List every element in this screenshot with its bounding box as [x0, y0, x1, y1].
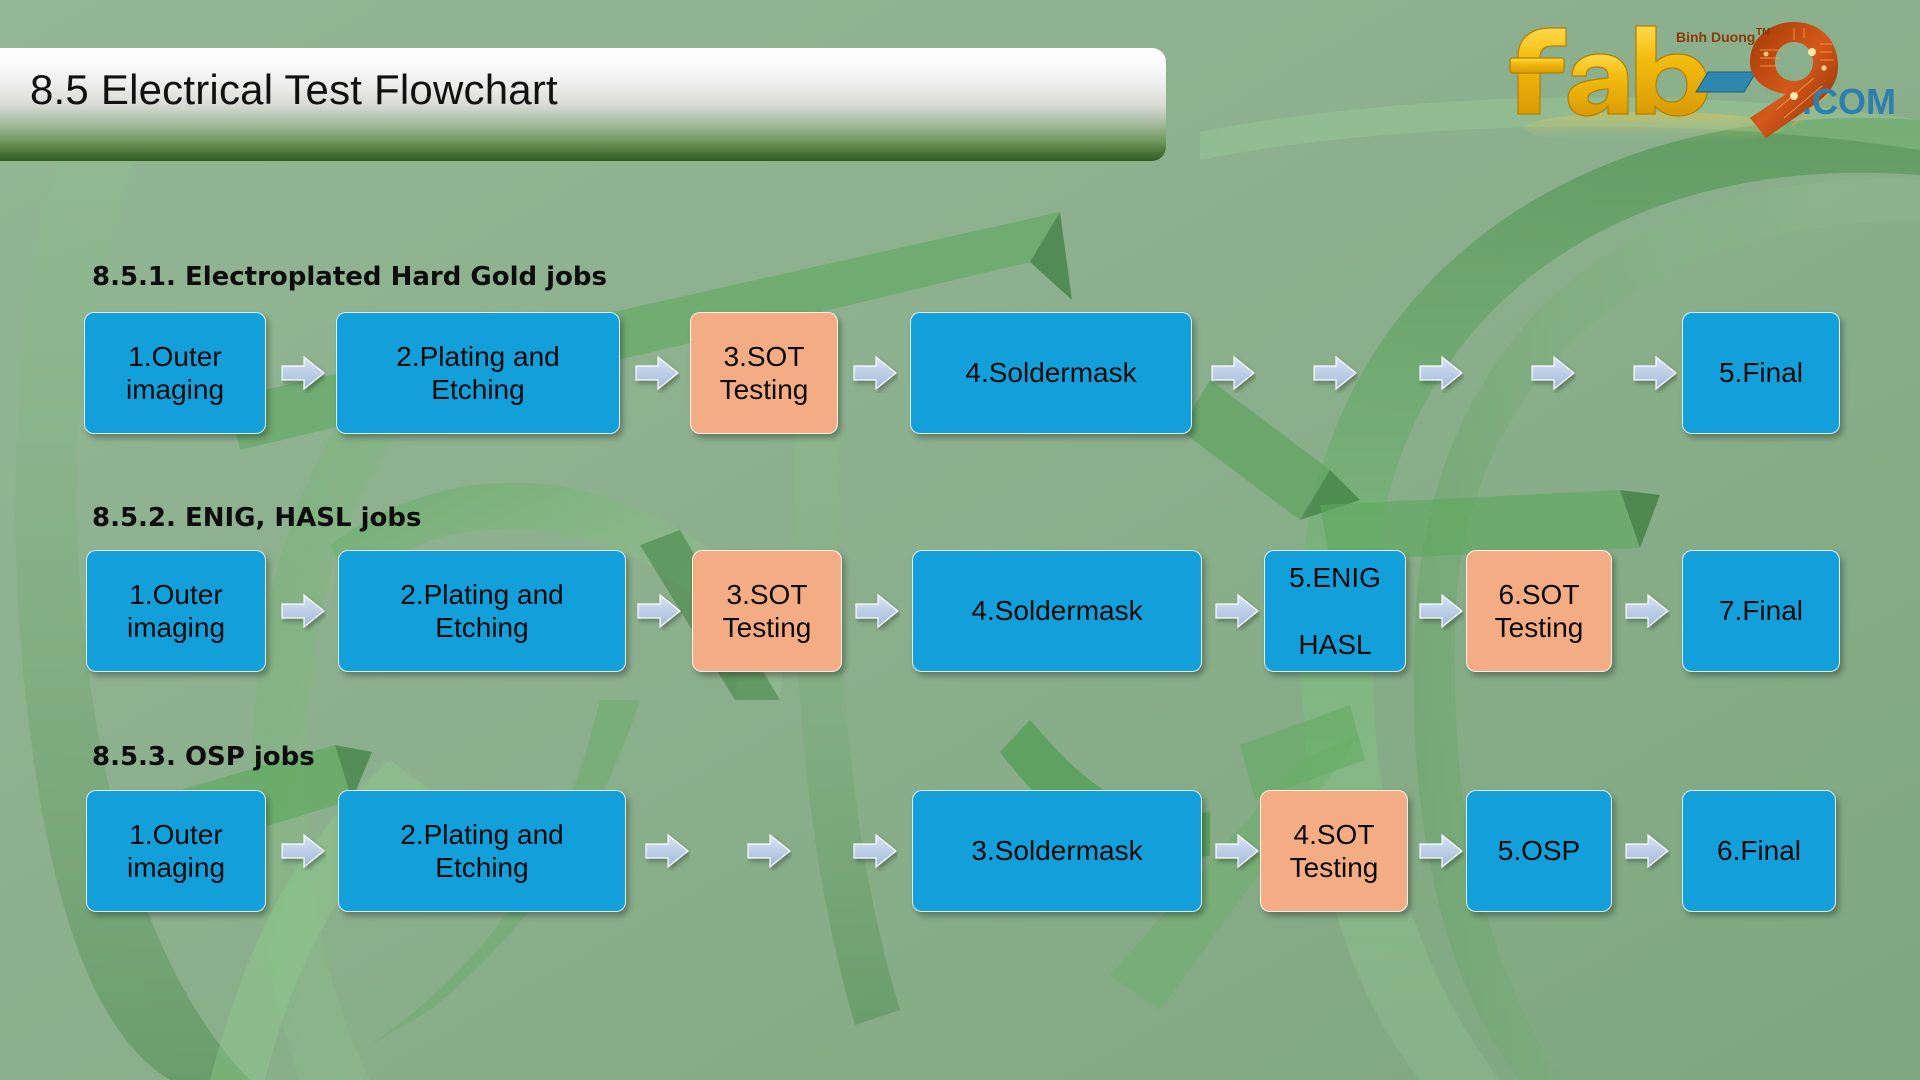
flow-node-label: 3.Soldermask [971, 834, 1142, 867]
flow-node[interactable]: 3.SOTTesting [692, 550, 842, 672]
flow-arrow-icon [1624, 591, 1670, 631]
flow-node-label: 6.SOTTesting [1495, 578, 1584, 644]
flow-node[interactable]: 5.ENIGHASL [1264, 550, 1406, 672]
section-heading-1: 8.5.1. Electroplated Hard Gold jobs [92, 262, 607, 292]
logo-domain: .COM [1802, 81, 1894, 122]
flow-arrow-icon [1312, 353, 1358, 393]
flow-arrow-icon [1214, 831, 1260, 871]
flow-node[interactable]: 2.Plating andEtching [336, 312, 620, 434]
flow-node-label: 1.Outerimaging [127, 818, 225, 884]
flow-arrow-icon [634, 353, 680, 393]
flow-node-label: 5.ENIGHASL [1289, 561, 1381, 660]
flow-arrow-icon [280, 353, 326, 393]
flow-node[interactable]: 2.Plating andEtching [338, 790, 626, 912]
flow-arrow-icon [644, 831, 690, 871]
flow-node[interactable]: 7.Final [1682, 550, 1840, 672]
flow-arrow-icon [1632, 353, 1678, 393]
flow-node-label: 2.Plating andEtching [396, 340, 559, 406]
flow-arrow-icon [746, 831, 792, 871]
flow-node-label: 4.Soldermask [971, 594, 1142, 627]
page-title: 8.5 Electrical Test Flowchart [30, 66, 558, 114]
flow-node[interactable]: 5.OSP [1466, 790, 1612, 912]
section-heading-3: 8.5.3. OSP jobs [92, 742, 315, 772]
flow-node-label: 3.SOTTesting [723, 578, 812, 644]
flow-arrow-icon [1418, 591, 1464, 631]
flow-node[interactable]: 3.Soldermask [912, 790, 1202, 912]
flow-arrow-icon [854, 591, 900, 631]
flow-node-label: 5.OSP [1498, 834, 1580, 867]
flow-arrow-icon [280, 831, 326, 871]
flow-arrow-icon [280, 591, 326, 631]
flow-arrow-icon [636, 591, 682, 631]
flow-node[interactable]: 4.SOTTesting [1260, 790, 1408, 912]
section-heading-2: 8.5.2. ENIG, HASL jobs [92, 503, 422, 533]
flow-arrow-icon [1418, 831, 1464, 871]
flow-node-label: 3.SOTTesting [720, 340, 809, 406]
flow-node-label: 2.Plating andEtching [400, 818, 563, 884]
flow-node-label: 4.Soldermask [965, 356, 1136, 389]
flow-arrow-icon [1530, 353, 1576, 393]
flow-arrow-icon [1214, 591, 1260, 631]
flow-node[interactable]: 2.Plating andEtching [338, 550, 626, 672]
flow-node-label: 1.Outerimaging [127, 578, 225, 644]
flow-node[interactable]: 4.Soldermask [910, 312, 1192, 434]
flow-arrow-icon [1210, 353, 1256, 393]
flow-node-label: 4.SOTTesting [1290, 818, 1379, 884]
flow-node[interactable]: 1.Outerimaging [86, 790, 266, 912]
flow-node[interactable]: 6.Final [1682, 790, 1836, 912]
flow-arrow-icon [852, 831, 898, 871]
flow-node-label: 1.Outerimaging [126, 340, 224, 406]
flow-node[interactable]: 1.Outerimaging [86, 550, 266, 672]
fab9-logo[interactable]: Binh Duong TM .COM [1494, 10, 1894, 142]
flow-arrow-icon [852, 353, 898, 393]
flow-arrow-icon [1418, 353, 1464, 393]
flow-node-label: 7.Final [1719, 594, 1803, 627]
flow-node[interactable]: 5.Final [1682, 312, 1840, 434]
logo-reflection [1524, 112, 1784, 142]
logo-tagline: Binh Duong [1676, 29, 1755, 45]
flow-node-label: 2.Plating andEtching [400, 578, 563, 644]
flow-arrow-icon [1624, 831, 1670, 871]
logo-trademark: TM [1756, 27, 1770, 38]
flow-node[interactable]: 4.Soldermask [912, 550, 1202, 672]
flow-node[interactable]: 6.SOTTesting [1466, 550, 1612, 672]
flow-node[interactable]: 3.SOTTesting [690, 312, 838, 434]
flow-node[interactable]: 1.Outerimaging [84, 312, 266, 434]
background-decoration [0, 0, 1920, 1080]
flow-node-label: 6.Final [1717, 834, 1801, 867]
flow-node-label: 5.Final [1719, 356, 1803, 389]
